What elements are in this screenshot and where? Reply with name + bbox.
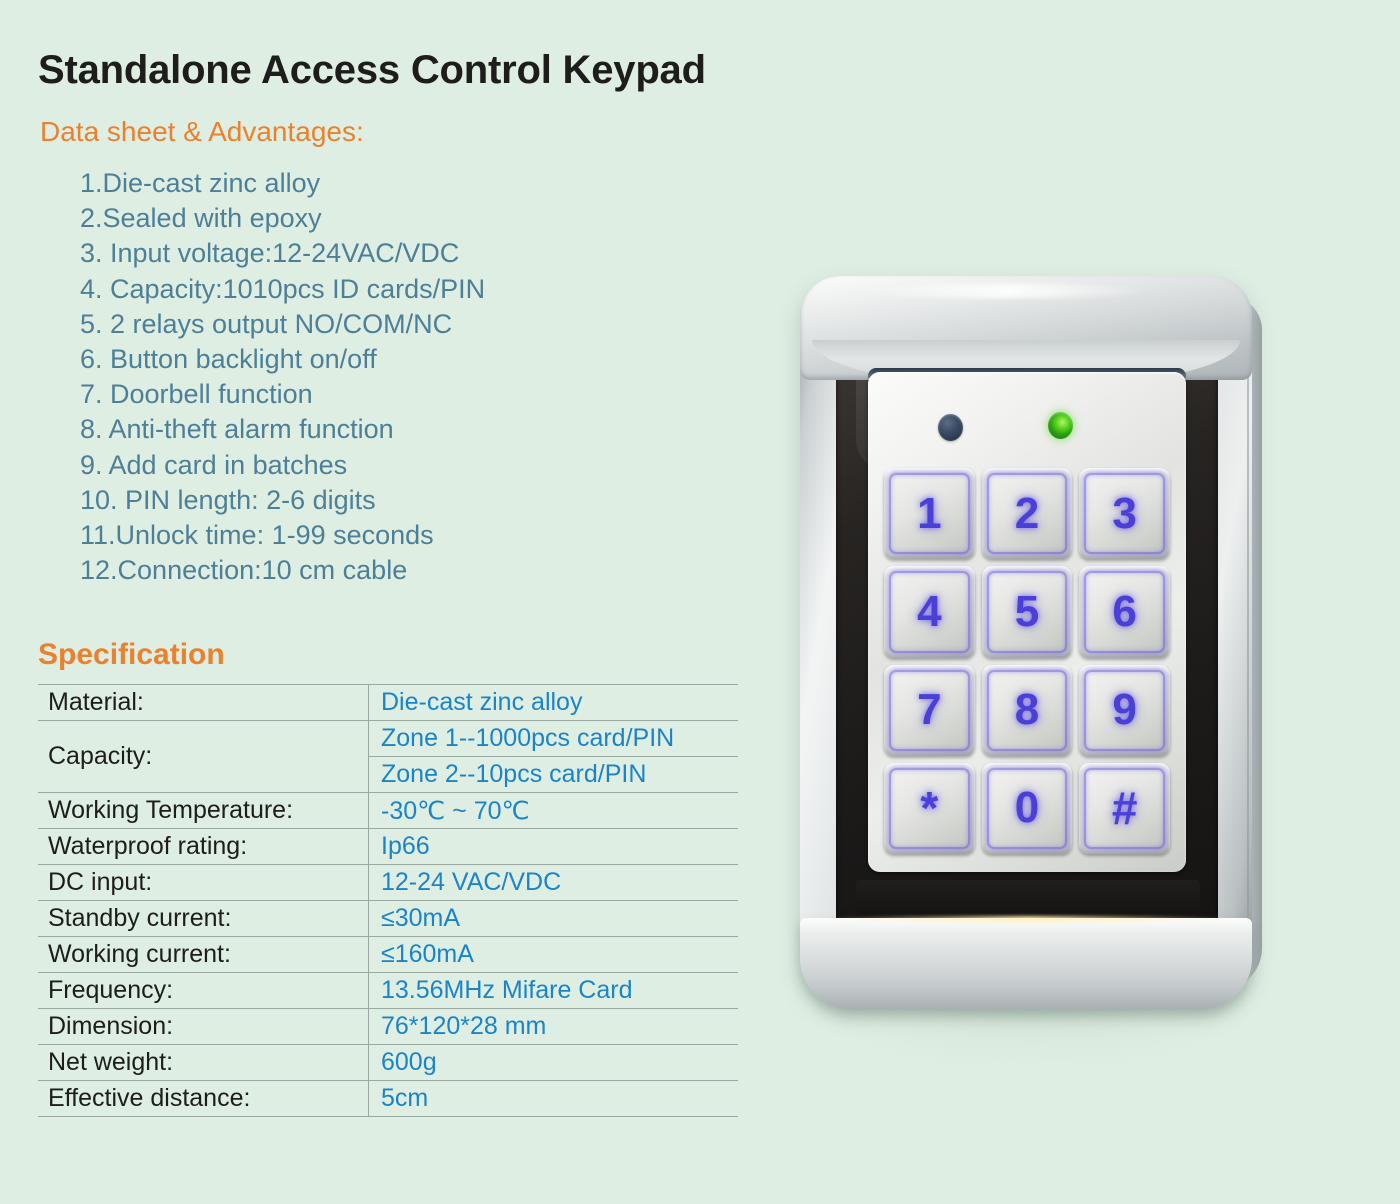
key-label: 2 <box>1015 492 1039 536</box>
table-row: Capacity: Zone 1--1000pcs card/PIN <box>38 721 738 757</box>
table-row: Working current: ≤160mA <box>38 937 738 973</box>
keypad-key-2[interactable]: 2 <box>982 468 1073 559</box>
housing-bottom-lip <box>800 918 1252 1010</box>
spec-label: Material: <box>38 685 369 721</box>
keypad-key-8[interactable]: 8 <box>982 665 1073 756</box>
product-photo: 1 2 3 4 5 6 7 8 9 * 0 # <box>760 250 1360 1080</box>
spec-value: Zone 2--10pcs card/PIN <box>369 757 739 793</box>
keypad-grid: 1 2 3 4 5 6 7 8 9 * 0 # <box>884 468 1170 854</box>
table-row: Effective distance: 5cm <box>38 1081 738 1117</box>
keypad-key-7[interactable]: 7 <box>884 665 975 756</box>
advantages-list: 1.Die-cast zinc alloy 2.Sealed with epox… <box>40 166 700 588</box>
key-label: 6 <box>1112 590 1136 634</box>
keypad-key-3[interactable]: 3 <box>1079 468 1170 559</box>
keypad-key-0[interactable]: 0 <box>982 763 1073 854</box>
spec-value: ≤30mA <box>369 901 739 937</box>
bottom-edge-glow <box>818 916 1238 922</box>
list-item: 12.Connection:10 cm cable <box>80 553 700 588</box>
housing-seam <box>1247 302 1249 978</box>
list-item: 4. Capacity:1010pcs ID cards/PIN <box>80 272 700 307</box>
datasheet-page: Standalone Access Control Keypad Data sh… <box>0 0 1400 1204</box>
keypad-key-9[interactable]: 9 <box>1079 665 1170 756</box>
list-item: 3. Input voltage:12-24VAC/VDC <box>80 236 700 271</box>
spec-value: ≤160mA <box>369 937 739 973</box>
spec-label: Capacity: <box>38 721 369 793</box>
table-row: DC input: 12-24 VAC/VDC <box>38 865 738 901</box>
spec-label: DC input: <box>38 865 369 901</box>
spec-label: Working current: <box>38 937 369 973</box>
spec-label: Net weight: <box>38 1045 369 1081</box>
spec-value: 76*120*28 mm <box>369 1009 739 1045</box>
spec-value: 600g <box>369 1045 739 1081</box>
key-label: 5 <box>1015 590 1039 634</box>
spec-value: 5cm <box>369 1081 739 1117</box>
key-label: 8 <box>1015 688 1039 732</box>
key-label: 4 <box>917 590 941 634</box>
table-row: Working Temperature: -30℃ ~ 70℃ <box>38 793 738 829</box>
spec-value: 13.56MHz Mifare Card <box>369 973 739 1009</box>
spec-label: Standby current: <box>38 901 369 937</box>
key-label: 0 <box>1015 786 1039 830</box>
housing-hood-highlight <box>856 284 1156 298</box>
status-led-right-icon <box>1048 412 1073 439</box>
list-item: 1.Die-cast zinc alloy <box>80 166 700 201</box>
spec-label: Working Temperature: <box>38 793 369 829</box>
advantages-heading: Data sheet & Advantages: <box>40 116 364 148</box>
key-label: # <box>1112 785 1138 831</box>
spec-label: Dimension: <box>38 1009 369 1045</box>
spec-value: Ip66 <box>369 829 739 865</box>
table-row: Dimension: 76*120*28 mm <box>38 1009 738 1045</box>
key-label: 7 <box>917 688 941 732</box>
list-item: 2.Sealed with epoxy <box>80 201 700 236</box>
key-label: 1 <box>917 492 941 536</box>
spec-label: Waterproof rating: <box>38 829 369 865</box>
list-item: 9. Add card in batches <box>80 448 700 483</box>
table-row: Net weight: 600g <box>38 1045 738 1081</box>
status-led-left-icon <box>938 414 963 441</box>
spec-value: Zone 1--1000pcs card/PIN <box>369 721 739 757</box>
key-label: * <box>920 785 938 831</box>
specification-table: Material: Die-cast zinc alloy Capacity: … <box>38 684 738 1117</box>
spec-value: Die-cast zinc alloy <box>369 685 739 721</box>
specification-heading: Specification <box>38 638 225 672</box>
table-row: Standby current: ≤30mA <box>38 901 738 937</box>
spec-label: Frequency: <box>38 973 369 1009</box>
list-item: 6. Button backlight on/off <box>80 342 700 377</box>
keypad-key-4[interactable]: 4 <box>884 566 975 657</box>
keypad-key-hash[interactable]: # <box>1079 763 1170 854</box>
table-row: Waterproof rating: Ip66 <box>38 829 738 865</box>
keypad-key-6[interactable]: 6 <box>1079 566 1170 657</box>
list-item: 10. PIN length: 2-6 digits <box>80 483 700 518</box>
spec-value: 12-24 VAC/VDC <box>369 865 739 901</box>
page-title: Standalone Access Control Keypad <box>38 48 706 93</box>
keypad-key-5[interactable]: 5 <box>982 566 1073 657</box>
spec-label: Effective distance: <box>38 1081 369 1117</box>
list-item: 11.Unlock time: 1-99 seconds <box>80 518 700 553</box>
keypad-key-1[interactable]: 1 <box>884 468 975 559</box>
key-label: 9 <box>1112 688 1136 732</box>
spec-value: -30℃ ~ 70℃ <box>369 793 739 829</box>
table-row: Material: Die-cast zinc alloy <box>38 685 738 721</box>
list-item: 5. 2 relays output NO/COM/NC <box>80 307 700 342</box>
keypad-key-star[interactable]: * <box>884 763 975 854</box>
list-item: 7. Doorbell function <box>80 377 700 412</box>
table-row: Frequency: 13.56MHz Mifare Card <box>38 973 738 1009</box>
list-item: 8. Anti-theft alarm function <box>80 412 700 447</box>
key-label: 3 <box>1112 492 1136 536</box>
